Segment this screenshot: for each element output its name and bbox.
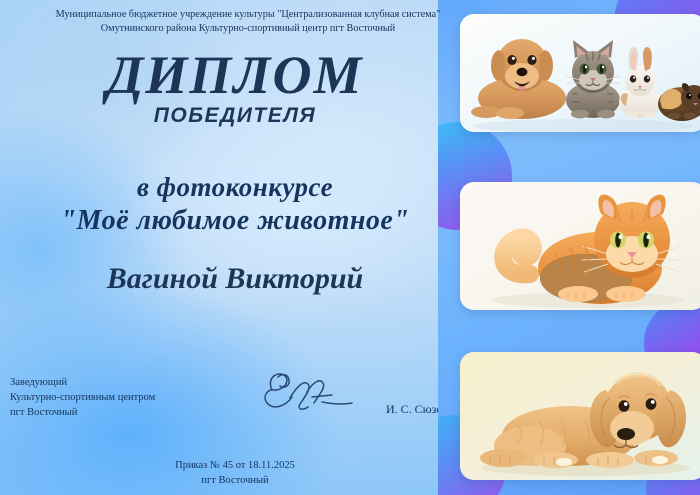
recipient-name: Вагиной Викторий: [0, 262, 470, 296]
signer-role-line3: пгт Восточный: [10, 406, 155, 421]
order-block: Приказ № 45 от 18.11.2025 пгт Восточный: [0, 458, 470, 488]
order-line-1: Приказ № 45 от 18.11.2025: [0, 458, 470, 473]
signer-role-line1: Заведующий: [10, 376, 155, 391]
signer-role: Заведующий Культурно-спортивным центром …: [10, 376, 155, 421]
contest-line-1: в фотоконкурсе: [0, 172, 470, 203]
contest-block: в фотоконкурсе "Моё любимое животное": [0, 172, 470, 237]
photo-pets-group: Щенок, котёнок, кролик и морская свинка: [460, 14, 700, 132]
photo-ginger-kitten: Рыжий котёнок: [460, 182, 700, 310]
signature-mark-label: handwritten-signature: [252, 416, 253, 417]
organization-header-line1: Муниципальное бюджетное учреждение культ…: [56, 9, 441, 20]
photo-spaniel-puppy: Щенок кокер-спаниеля: [460, 352, 700, 480]
photo-panel: Щенок, котёнок, кролик и морская свинка: [438, 0, 700, 495]
diploma-certificate: Муниципальное бюджетное учреждение культ…: [0, 0, 700, 495]
contest-line-2: "Моё любимое животное": [0, 205, 470, 237]
organization-header-line2: Омутнинского района Культурно-спортивный…: [8, 22, 488, 36]
certificate-content: Муниципальное бюджетное учреждение культ…: [0, 0, 470, 495]
organization-header: Муниципальное бюджетное учреждение культ…: [8, 8, 488, 36]
page-title: ДИПЛОМ: [0, 44, 470, 106]
page-subtitle: ПОБЕДИТЕЛЯ: [0, 104, 470, 128]
signature-icon: handwritten-signature: [252, 364, 362, 416]
signer-role-line2: Культурно-спортивным центром: [10, 391, 155, 406]
order-line-2: пгт Восточный: [0, 473, 470, 488]
